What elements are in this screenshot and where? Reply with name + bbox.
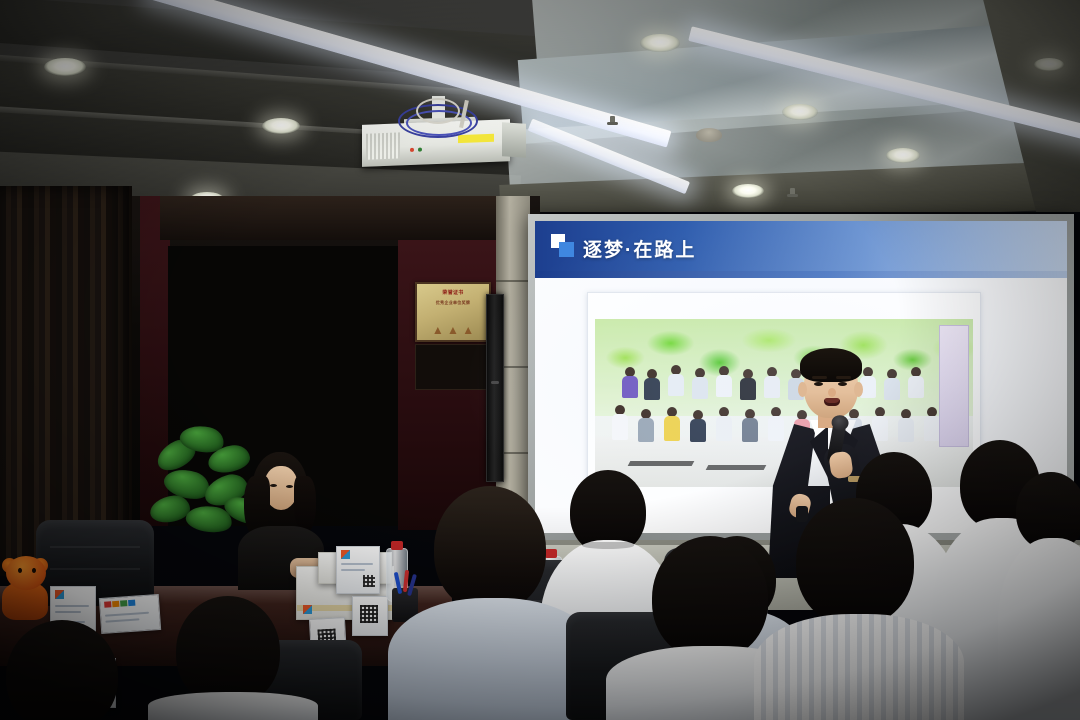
presenter-ear: [798, 382, 807, 397]
photo-shadow: [706, 465, 767, 470]
projector-label-sticker: [458, 134, 494, 143]
downlight: [886, 148, 920, 163]
sprinkler-head-icon: [790, 188, 795, 197]
attendee-torso: [998, 538, 1080, 720]
plush-eye: [32, 568, 36, 573]
attendee-front-far-left: [158, 596, 308, 720]
downlight: [640, 34, 680, 52]
projector-power-led: [410, 148, 414, 152]
attendee-head: [796, 498, 914, 626]
two-squares-logo-icon: [551, 234, 575, 258]
presenter-eye: [838, 382, 847, 386]
attendant-hair-side: [294, 476, 316, 534]
speaker-indicator: [491, 381, 499, 384]
qr-card[interactable]: [352, 596, 388, 636]
attendant-eye: [270, 484, 277, 487]
presenter-hair: [800, 348, 862, 382]
attendee-torso: [148, 692, 318, 720]
attendant-eye: [286, 485, 293, 488]
plush-toy: [2, 556, 48, 618]
qr-code: [363, 575, 375, 587]
attendee-front-corner: [0, 620, 150, 720]
card-logo-icon: [55, 590, 64, 599]
plush-head: [6, 556, 46, 590]
downlight: [262, 118, 300, 134]
presenter-eye: [814, 382, 823, 386]
honor-plaque: 荣誉证书 优秀企业单位奖牌 ▲ ▲ ▲: [415, 282, 491, 342]
card-logo-icon: [341, 550, 350, 559]
projector-vent: [366, 132, 400, 159]
plaque-title: 荣誉证书: [423, 290, 483, 296]
conference-room-photo: 荣誉证书 优秀企业单位奖牌 ▲ ▲ ▲ 逐梦·在路上: [0, 0, 1080, 720]
wall-header-band: [160, 196, 510, 240]
slide-header: 逐梦·在路上: [535, 221, 1067, 271]
attendee-head: [652, 536, 768, 660]
pillar-joint-line: [496, 280, 530, 282]
attendee-front-right: [770, 498, 946, 720]
bottle-cap: [391, 541, 403, 550]
projector-status-led: [418, 148, 422, 152]
smoke-detector-icon: [696, 128, 722, 142]
downlight: [1034, 58, 1064, 71]
presenter-eyebrow: [812, 376, 827, 379]
wall-speaker-left: [486, 294, 504, 482]
presenter-ear: [854, 382, 863, 397]
plaque-subtitle: 优秀企业单位奖牌: [423, 300, 483, 305]
photo-shadow: [628, 461, 695, 466]
photo-side-banner: [939, 325, 969, 447]
projector-lens: [502, 122, 526, 158]
sprinkler-head-icon: [610, 116, 615, 125]
attendee-far-right: [1008, 472, 1080, 720]
presenter-mouth: [824, 398, 840, 406]
presenter-nose: [828, 388, 836, 397]
attendee-torso: [754, 614, 964, 720]
attendee-head: [434, 486, 546, 612]
window-curtain: [0, 186, 132, 576]
plush-eye: [18, 568, 22, 573]
ceiling: [0, 0, 1080, 212]
presenter-eyebrow: [836, 376, 851, 379]
qr-code: [360, 605, 378, 623]
wall-frame-dark: [415, 344, 489, 390]
plaque-ornament-icon: ▲ ▲ ▲: [417, 324, 489, 336]
slide-title: 逐梦·在路上: [583, 235, 696, 262]
info-card[interactable]: [336, 546, 380, 594]
projector-cable: [416, 98, 460, 124]
attendee-front-left: [406, 486, 578, 720]
attendee-head: [6, 620, 118, 720]
attendee-head: [176, 596, 280, 706]
downlight: [732, 184, 764, 198]
downlight: [44, 58, 86, 76]
downlight: [782, 104, 818, 120]
